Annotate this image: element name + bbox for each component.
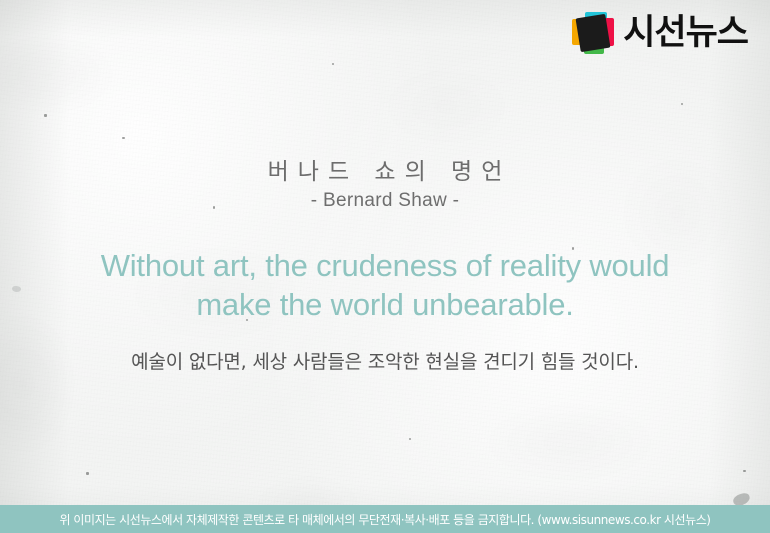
paper-speck: [86, 472, 89, 475]
paper-speck: [409, 438, 411, 440]
quote-attribution: - Bernard Shaw -: [0, 190, 770, 212]
logo-wordmark: 시선뉴스: [623, 16, 748, 51]
quote-english-line-2: make the world unbearable.: [196, 287, 573, 322]
logo-square-black: [576, 14, 611, 52]
copyright-footer: 위 이미지는 시선뉴스에서 자체제작한 콘텐츠로 타 매체에서의 무단전재·복사…: [0, 505, 770, 533]
paper-speck: [122, 137, 125, 139]
quote-english: Without art, the crudeness of reality wo…: [0, 246, 770, 324]
paper-speck: [743, 470, 746, 472]
quote-korean-translation: 예술이 없다면, 세상 사람들은 조악한 현실을 견디기 힘들 것이다.: [0, 347, 770, 374]
paper-speck: [332, 63, 334, 65]
page-title: 버나드 쇼의 명언: [0, 159, 770, 185]
paper-speck: [681, 103, 683, 105]
copyright-notice: 위 이미지는 시선뉴스에서 자체제작한 콘텐츠로 타 매체에서의 무단전재·복사…: [59, 511, 710, 528]
site-logo[interactable]: 시선뉴스: [572, 12, 748, 54]
sisun-news-logo-icon: [572, 12, 614, 54]
quote-english-line-1: Without art, the crudeness of reality wo…: [101, 248, 670, 283]
quote-card: 시선뉴스 버나드 쇼의 명언 - Bernard Shaw - Without …: [0, 0, 770, 533]
paper-speck: [44, 114, 47, 117]
